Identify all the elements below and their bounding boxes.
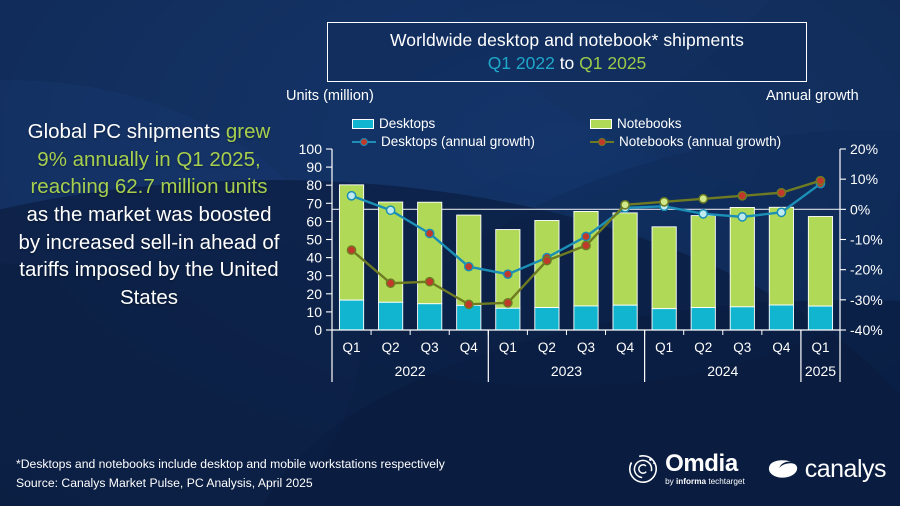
left-axis-title: Units (million) — [286, 88, 374, 104]
svg-text:60: 60 — [306, 213, 322, 229]
omdia-name: Omdia — [665, 452, 745, 476]
svg-text:Q2: Q2 — [382, 340, 400, 355]
svg-text:-20%: -20% — [850, 262, 883, 278]
footnote: *Desktops and notebooks include desktop … — [16, 455, 445, 493]
svg-text:70: 70 — [306, 195, 322, 211]
svg-text:80: 80 — [306, 177, 322, 193]
omdia-tagline-techtarget: techtarget — [706, 477, 745, 486]
svg-text:2025: 2025 — [805, 363, 836, 379]
canalys-logo: canalys — [767, 455, 886, 484]
legend-item-desktops[interactable]: Desktops — [352, 116, 590, 131]
omdia-tagline-by: by — [665, 477, 676, 486]
svg-text:Q1: Q1 — [343, 340, 361, 355]
chart-svg: 100908070605040302010020%10%0%-10%-20%-3… — [286, 143, 886, 388]
svg-text:Q3: Q3 — [577, 340, 595, 355]
omdia-logo: Omdia by informa techtarget — [628, 452, 745, 486]
title-period-to: Q1 2025 — [579, 53, 646, 73]
svg-text:Q2: Q2 — [694, 340, 712, 355]
svg-text:20: 20 — [306, 286, 322, 302]
svg-text:Q4: Q4 — [460, 340, 479, 355]
svg-text:10: 10 — [306, 304, 322, 320]
svg-text:10%: 10% — [850, 171, 878, 187]
svg-text:0%: 0% — [850, 201, 870, 217]
title-period-from: Q1 2022 — [488, 53, 555, 73]
svg-text:Q4: Q4 — [772, 340, 791, 355]
svg-text:50: 50 — [306, 232, 322, 248]
omdia-wordmark: Omdia by informa techtarget — [665, 452, 745, 486]
slide-root: Worldwide desktop and notebook* shipment… — [0, 0, 900, 506]
svg-text:0: 0 — [314, 322, 322, 338]
svg-text:2023: 2023 — [551, 363, 582, 379]
chart-title-line1: Worldwide desktop and notebook* shipment… — [390, 30, 744, 52]
svg-text:Q3: Q3 — [733, 340, 751, 355]
canalys-mark-icon — [767, 456, 799, 482]
title-period-sep: to — [555, 53, 579, 73]
svg-text:Q1: Q1 — [655, 340, 673, 355]
svg-text:2024: 2024 — [707, 363, 738, 379]
svg-text:-10%: -10% — [850, 232, 883, 248]
svg-text:Q3: Q3 — [421, 340, 439, 355]
canalys-name: canalys — [805, 455, 886, 484]
legend-item-notebooks[interactable]: Notebooks — [590, 116, 828, 131]
logo-group: Omdia by informa techtarget canalys — [628, 452, 886, 486]
narrative-part3: as the market was boosted by increased s… — [19, 203, 280, 309]
svg-text:100: 100 — [299, 143, 323, 157]
svg-text:20%: 20% — [850, 143, 878, 157]
omdia-tagline-informa: informa — [676, 477, 706, 486]
source-line: Source: Canalys Market Pulse, PC Analysi… — [16, 474, 445, 493]
svg-text:2022: 2022 — [395, 363, 426, 379]
narrative-part1: Global PC shipments — [28, 120, 226, 143]
chart-title-line2: Q1 2022 to Q1 2025 — [488, 52, 647, 75]
svg-text:Q2: Q2 — [538, 340, 556, 355]
chart-title-box: Worldwide desktop and notebook* shipment… — [327, 22, 807, 82]
chart-plot-area: 100908070605040302010020%10%0%-10%-20%-3… — [286, 143, 886, 388]
svg-text:40: 40 — [306, 250, 322, 266]
notebooks-swatch-icon — [590, 119, 612, 129]
svg-text:-40%: -40% — [850, 322, 883, 338]
svg-text:30: 30 — [306, 268, 322, 284]
footnote-line1: *Desktops and notebooks include desktop … — [16, 455, 445, 474]
svg-text:-30%: -30% — [850, 292, 883, 308]
svg-text:90: 90 — [306, 159, 322, 175]
svg-text:Q1: Q1 — [811, 340, 829, 355]
desktops-swatch-icon — [352, 119, 374, 129]
narrative-text: Global PC shipments grew 9% annually in … — [18, 118, 280, 312]
omdia-mark-icon — [628, 454, 658, 484]
omdia-tagline: by informa techtarget — [665, 478, 745, 486]
legend-label-desktops: Desktops — [379, 116, 435, 131]
svg-text:Q1: Q1 — [499, 340, 517, 355]
legend-label-notebooks: Notebooks — [617, 116, 682, 131]
right-axis-title: Annual growth — [766, 88, 859, 104]
svg-text:Q4: Q4 — [616, 340, 635, 355]
